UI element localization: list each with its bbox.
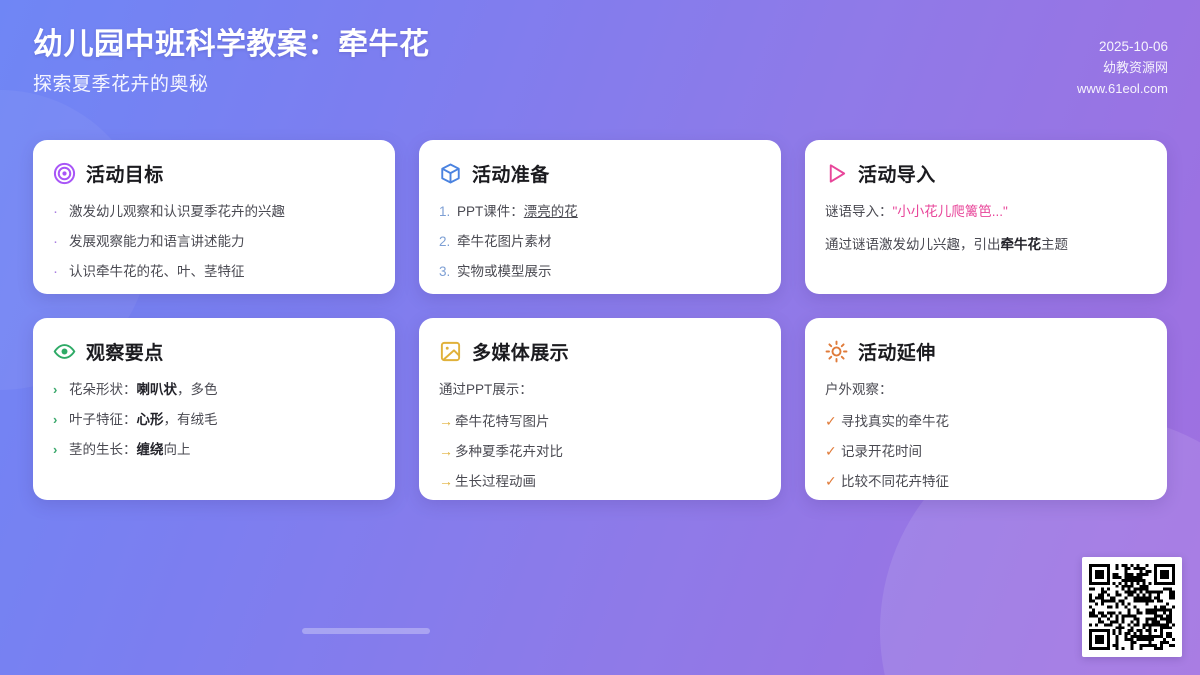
obs-strong: 缠绕 [137, 442, 164, 457]
card-activity-intro[interactable]: 活动导入 谜语导入："小小花儿爬篱笆..." 通过谜语激发幼儿兴趣，引出牵牛花主… [805, 140, 1167, 294]
list-item-text: 激发幼儿观察和认识夏季花卉的兴趣 [69, 202, 375, 221]
list-item: › 叶子特征：心形，有绒毛 [53, 410, 375, 429]
qr-code-graphic [1089, 564, 1175, 650]
list-item-text: 多种夏季花卉对比 [455, 442, 761, 461]
dot-bullet-icon: · [53, 262, 69, 281]
card-observation-points[interactable]: 观察要点 › 花朵形状：喇叭状，多色 › 叶子特征：心形，有绒毛 › 茎的生长：… [33, 318, 395, 500]
image-icon [439, 340, 462, 363]
intro-suffix: 主题 [1041, 237, 1068, 252]
obs-suffix: ，多色 [177, 382, 218, 397]
intro-line: 通过谜语激发幼儿兴趣，引出牵牛花主题 [825, 235, 1147, 254]
check-icon: ✓ [825, 472, 841, 491]
list-item-text: 牵牛花特写图片 [455, 412, 761, 431]
header-meta-block: 2025-10-06 幼教资源网 www.61eol.com [1077, 36, 1168, 99]
chevron-right-icon: › [53, 440, 69, 459]
list-item-text: 生长过程动画 [455, 472, 761, 491]
card-header: 活动延伸 [825, 338, 1147, 365]
riddle-line: 谜语导入："小小花儿爬篱笆..." [825, 202, 1147, 221]
dot-bullet-icon: · [53, 202, 69, 221]
obs-suffix: 向上 [164, 442, 191, 457]
list-item: → 多种夏季花卉对比 [439, 442, 761, 461]
arrow-right-icon: → [439, 442, 455, 461]
prep-prefix: PPT课件： [457, 204, 524, 219]
list-item-text: PPT课件：漂亮的花 [457, 202, 761, 221]
intro-strong: 牵牛花 [1001, 237, 1042, 252]
list-item-text: 寻找真实的牵牛花 [841, 412, 1147, 431]
list-item-text: 实物或模型展示 [457, 262, 761, 281]
list-number: 1. [439, 202, 457, 221]
obs-prefix: 花朵形状： [69, 382, 137, 397]
goal-list: · 激发幼儿观察和认识夏季花卉的兴趣 · 发展观察能力和语言讲述能力 · 认识牵… [53, 202, 375, 281]
header-title-block: 幼儿园中班科学教案：牵牛花 探索夏季花卉的奥秘 [33, 26, 430, 98]
obs-prefix: 叶子特征： [69, 412, 137, 427]
list-item: 3. 实物或模型展示 [439, 262, 761, 281]
card-title: 观察要点 [86, 338, 164, 365]
list-item: ✓ 比较不同花卉特征 [825, 472, 1147, 491]
card-title: 活动目标 [86, 160, 164, 187]
list-item: · 激发幼儿观察和认识夏季花卉的兴趣 [53, 202, 375, 221]
obs-strong: 心形 [137, 412, 164, 427]
multimedia-list: → 牵牛花特写图片 → 多种夏季花卉对比 → 生长过程动画 [439, 412, 761, 491]
meta-site-name: 幼教资源网 [1077, 57, 1168, 78]
qr-code[interactable] [1082, 557, 1182, 657]
observation-list: › 花朵形状：喇叭状，多色 › 叶子特征：心形，有绒毛 › 茎的生长：缠绕向上 [53, 380, 375, 459]
card-header: 多媒体展示 [439, 338, 761, 365]
arrow-right-icon: → [439, 472, 455, 491]
page-header: 幼儿园中班科学教案：牵牛花 探索夏季花卉的奥秘 2025-10-06 幼教资源网… [0, 0, 1200, 130]
list-item-text: 茎的生长：缠绕向上 [69, 440, 375, 459]
list-item-text: 记录开花时间 [841, 442, 1147, 461]
sun-icon [825, 340, 848, 363]
intro-prefix: 通过谜语激发幼儿兴趣，引出 [825, 237, 1001, 252]
riddle-prefix: 谜语导入： [825, 204, 893, 219]
obs-strong: 喇叭状 [137, 382, 178, 397]
arrow-right-icon: → [439, 412, 455, 431]
check-icon: ✓ [825, 412, 841, 431]
list-number: 2. [439, 232, 457, 251]
prep-list: 1. PPT课件：漂亮的花 2. 牵牛花图片素材 3. 实物或模型展示 [439, 202, 761, 281]
list-item: · 发展观察能力和语言讲述能力 [53, 232, 375, 251]
list-item: ✓ 记录开花时间 [825, 442, 1147, 461]
list-item-text: 花朵形状：喇叭状，多色 [69, 380, 375, 399]
card-header: 活动准备 [439, 160, 761, 187]
page-subtitle: 探索夏季花卉的奥秘 [33, 72, 430, 98]
list-item: → 牵牛花特写图片 [439, 412, 761, 431]
extension-list: ✓ 寻找真实的牵牛花 ✓ 记录开花时间 ✓ 比较不同花卉特征 [825, 412, 1147, 491]
list-item: 1. PPT课件：漂亮的花 [439, 202, 761, 221]
box-icon [439, 162, 462, 185]
list-item: · 认识牵牛花的花、叶、茎特征 [53, 262, 375, 281]
meta-url: www.61eol.com [1077, 78, 1168, 99]
card-activity-goal[interactable]: 活动目标 · 激发幼儿观察和认识夏季花卉的兴趣 · 发展观察能力和语言讲述能力 … [33, 140, 395, 294]
obs-suffix: ，有绒毛 [164, 412, 218, 427]
card-activity-prep[interactable]: 活动准备 1. PPT课件：漂亮的花 2. 牵牛花图片素材 3. 实物或模型展示 [419, 140, 781, 294]
card-activity-extension[interactable]: 活动延伸 户外观察： ✓ 寻找真实的牵牛花 ✓ 记录开花时间 ✓ 比较不同花卉特… [805, 318, 1167, 500]
riddle-quote: "小小花儿爬篱笆..." [893, 204, 1008, 219]
extension-lead: 户外观察： [825, 380, 1147, 399]
list-item: → 生长过程动画 [439, 472, 761, 491]
obs-prefix: 茎的生长： [69, 442, 137, 457]
card-grid: 活动目标 · 激发幼儿观察和认识夏季花卉的兴趣 · 发展观察能力和语言讲述能力 … [33, 140, 1167, 500]
chevron-right-icon: › [53, 380, 69, 399]
multimedia-lead: 通过PPT展示： [439, 380, 761, 399]
list-item: › 花朵形状：喇叭状，多色 [53, 380, 375, 399]
card-title: 活动延伸 [858, 338, 936, 365]
list-number: 3. [439, 262, 457, 281]
list-item: 2. 牵牛花图片素材 [439, 232, 761, 251]
page-title: 幼儿园中班科学教案：牵牛花 [33, 26, 430, 64]
check-icon: ✓ [825, 442, 841, 461]
dot-bullet-icon: · [53, 232, 69, 251]
card-header: 观察要点 [53, 338, 375, 365]
card-header: 活动导入 [825, 160, 1147, 187]
list-item-text: 比较不同花卉特征 [841, 472, 1147, 491]
target-icon [53, 162, 76, 185]
list-item-text: 牵牛花图片素材 [457, 232, 761, 251]
eye-icon [53, 340, 76, 363]
card-header: 活动目标 [53, 160, 375, 187]
card-title: 多媒体展示 [472, 338, 569, 365]
play-icon [825, 162, 848, 185]
chevron-right-icon: › [53, 410, 69, 429]
list-item-text: 认识牵牛花的花、叶、茎特征 [69, 262, 375, 281]
card-title: 活动导入 [858, 160, 936, 187]
meta-date: 2025-10-06 [1077, 36, 1168, 57]
list-item: › 茎的生长：缠绕向上 [53, 440, 375, 459]
card-multimedia-display[interactable]: 多媒体展示 通过PPT展示： → 牵牛花特写图片 → 多种夏季花卉对比 → 生长… [419, 318, 781, 500]
list-item-text: 叶子特征：心形，有绒毛 [69, 410, 375, 429]
list-item: ✓ 寻找真实的牵牛花 [825, 412, 1147, 431]
card-title: 活动准备 [472, 160, 550, 187]
list-item-text: 发展观察能力和语言讲述能力 [69, 232, 375, 251]
progress-indicator[interactable] [302, 628, 430, 634]
prep-link[interactable]: 漂亮的花 [524, 204, 578, 219]
